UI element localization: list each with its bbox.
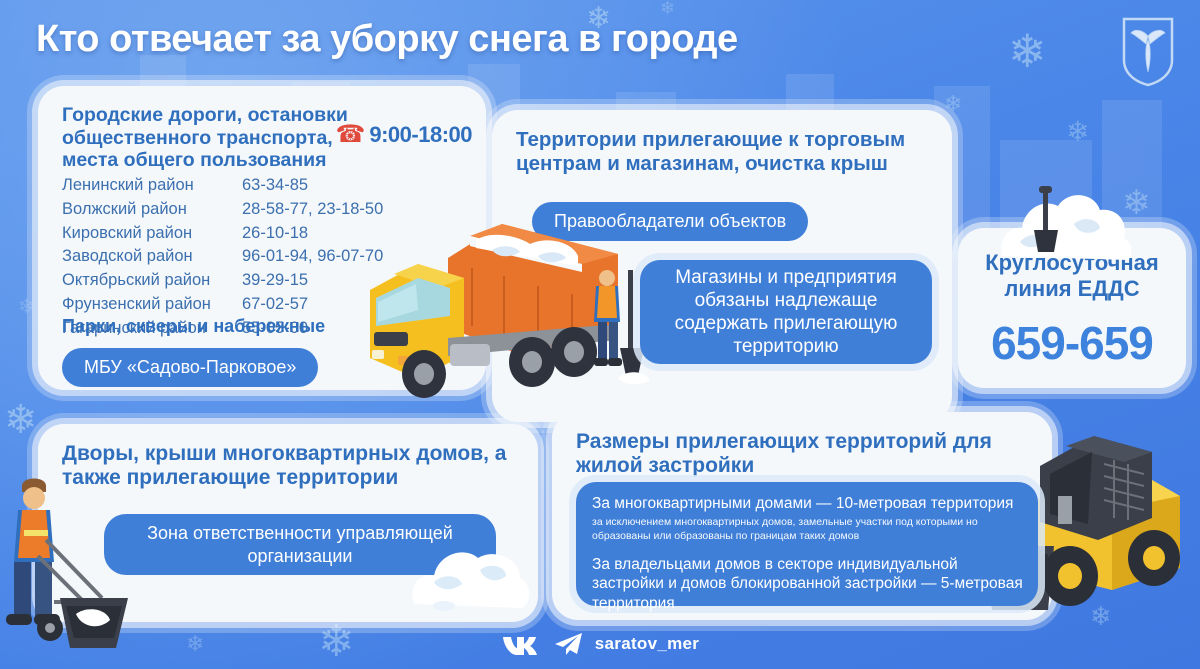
parks-heading: Парки, скверы и набережные bbox=[62, 316, 325, 337]
snowflake-icon: ❄ bbox=[4, 400, 38, 440]
roads-hours-text: 9:00-18:00 bbox=[369, 122, 472, 148]
snow-heap-illustration bbox=[408, 520, 536, 612]
district-name: Октябрьский район bbox=[62, 269, 242, 293]
snow-pile-with-shovel-illustration bbox=[996, 168, 1146, 264]
sizes-rule-2: За владельцами домов в секторе индивидуа… bbox=[576, 544, 1038, 613]
district-name: Фрунзенский район bbox=[62, 293, 242, 317]
malls-obligation-note: Магазины и предприятия обязаны надлежаще… bbox=[640, 260, 932, 364]
infographic-poster: ❄ ❄ ❄ ❄ ❄ ❄ ❄ ❄ ❄ ❄ ❄ Кто отвечает за уб… bbox=[0, 0, 1200, 669]
dump-truck-illustration bbox=[352, 206, 664, 406]
sizes-rule-1: За многоквартирными домами — 10-метровая… bbox=[576, 482, 1038, 513]
district-name: Заводской район bbox=[62, 245, 242, 269]
district-name: Кировский район bbox=[62, 222, 242, 246]
vk-logo-icon[interactable] bbox=[501, 632, 541, 656]
district-name: Ленинский район bbox=[62, 174, 242, 198]
district-phone: 26-10-18 bbox=[242, 222, 308, 246]
parks-organization-badge: МБУ «Садово-Парковое» bbox=[62, 348, 318, 387]
hotline-phone-number[interactable]: 659-659 bbox=[958, 316, 1186, 370]
social-handle[interactable]: saratov_mer bbox=[595, 634, 699, 654]
table-row: Ленинский район 63-34-85 bbox=[62, 174, 462, 198]
roads-working-hours: ☎ 9:00-18:00 bbox=[335, 122, 472, 148]
footer-social: saratov_mer bbox=[0, 631, 1200, 657]
worker-with-snow-cart-illustration bbox=[0, 470, 134, 655]
sizes-rule-1-footnote: за исключением многоквартирных домов, за… bbox=[576, 513, 1038, 544]
roads-heading: Городские дороги, остановки общественног… bbox=[62, 104, 362, 172]
snowflake-icon: ❄ bbox=[1066, 118, 1089, 146]
district-phone: 67-02-57 bbox=[242, 293, 308, 317]
saratov-coat-of-arms-icon bbox=[1120, 16, 1176, 88]
district-phone: 63-34-85 bbox=[242, 174, 308, 198]
snowflake-icon: ❄ bbox=[944, 94, 962, 116]
district-phone: 39-29-15 bbox=[242, 269, 308, 293]
snowflake-icon: ❄ bbox=[1008, 28, 1047, 74]
page-title: Кто отвечает за уборку снега в городе bbox=[36, 18, 738, 61]
telephone-icon: ☎ bbox=[335, 123, 365, 147]
district-name: Волжский район bbox=[62, 198, 242, 222]
telegram-plane-icon[interactable] bbox=[553, 631, 583, 657]
malls-heading: Территории прилегающие к торговым центра… bbox=[516, 128, 932, 176]
malls-note-text: Магазины и предприятия обязаны надлежаще… bbox=[640, 266, 932, 359]
sizes-rules-box: За многоквартирными домами — 10-метровая… bbox=[576, 482, 1038, 606]
snowflake-icon: ❄ bbox=[660, 0, 675, 18]
snowflake-icon: ❄ bbox=[18, 296, 35, 316]
